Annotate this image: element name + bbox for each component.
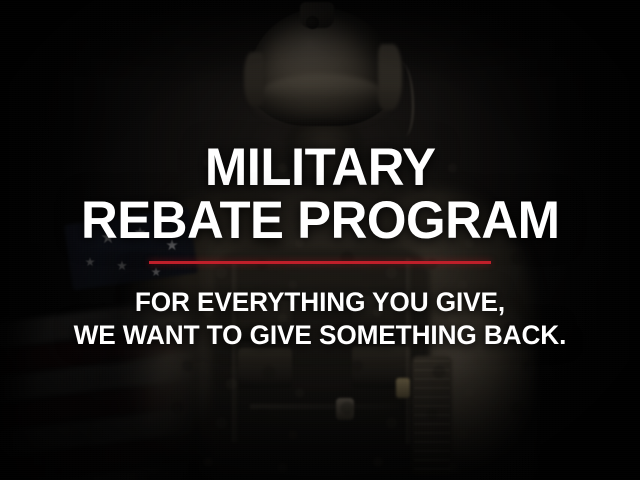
subhead-line-2: WE WANT TO GIVE SOMETHING BACK. [74,319,567,352]
headline-line-2: REBATE PROGRAM [81,195,560,247]
red-divider-rule [149,261,491,264]
poster-text-block: MILITARY REBATE PROGRAM FOR EVERYTHING Y… [0,0,640,480]
poster-headline: MILITARY REBATE PROGRAM [81,142,560,247]
poster-subheadline: FOR EVERYTHING YOU GIVE, WE WANT TO GIVE… [74,286,567,352]
subhead-line-1: FOR EVERYTHING YOU GIVE, [135,287,505,317]
headline-line-1: MILITARY [205,138,436,197]
military-rebate-program-poster: MILITARY REBATE PROGRAM FOR EVERYTHING Y… [0,0,640,480]
